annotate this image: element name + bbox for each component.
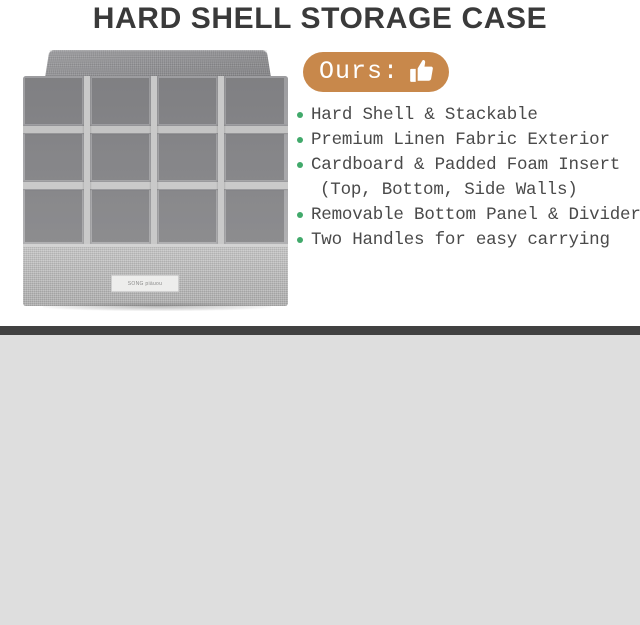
list-item-text: (Top, Bottom, Side Walls)	[320, 180, 578, 200]
others-section: Others: Bare cardboard bottom / dividers…	[0, 335, 640, 625]
brand-label: SONG piàuou	[111, 275, 179, 292]
bullet-dot	[297, 237, 303, 243]
ours-section: HARD SHELL STORAGE CASE	[0, 0, 640, 326]
compartment-divider	[84, 76, 90, 244]
case-compartment-grid	[23, 76, 288, 244]
list-item-text: Cardboard & Padded Foam Insert	[311, 155, 620, 175]
compartment-cell	[226, 190, 284, 242]
compartment-cell	[226, 78, 284, 124]
compartment-cell	[25, 190, 82, 242]
list-item: Cardboard & Padded Foam Insert	[296, 153, 640, 178]
infographic-page: HARD SHELL STORAGE CASE	[0, 0, 640, 625]
list-item-text: Removable Bottom Panel & Dividers	[311, 205, 640, 225]
list-item-text: Premium Linen Fabric Exterior	[311, 130, 610, 150]
list-item: Two Handles for easy carrying	[296, 228, 640, 253]
ours-badge: Ours:	[303, 52, 449, 92]
list-item: Hard Shell & Stackable	[296, 103, 640, 128]
bullet-dot	[297, 137, 303, 143]
compartment-divider	[218, 76, 224, 244]
compartment-cell	[92, 78, 149, 124]
case-front-panel: SONG piàuou	[23, 244, 288, 306]
compartment-cell	[25, 78, 82, 124]
compartment-cell	[159, 78, 216, 124]
ours-badge-label: Ours:	[319, 59, 399, 84]
compartment-cell	[159, 134, 216, 180]
list-item: Removable Bottom Panel & Dividers	[296, 203, 640, 228]
list-item-text: Hard Shell & Stackable	[311, 105, 538, 125]
case-body: SONG piàuou	[23, 76, 288, 306]
compartment-cell	[226, 134, 284, 180]
compartment-divider	[151, 76, 157, 244]
compartment-cell	[25, 134, 82, 180]
thumbs-up-icon	[409, 58, 435, 84]
ours-feature-list: Hard Shell & Stackable Premium Linen Fab…	[296, 103, 640, 253]
bullet-dot	[297, 212, 303, 218]
compartment-cell	[159, 190, 216, 242]
compartment-cell	[92, 134, 149, 180]
bullet-dot	[297, 162, 303, 168]
list-item-continuation: (Top, Bottom, Side Walls)	[296, 178, 640, 203]
hard-shell-case-image: SONG piàuou	[23, 48, 288, 306]
list-item: Premium Linen Fabric Exterior	[296, 128, 640, 153]
bullet-dot	[297, 112, 303, 118]
section-divider	[0, 326, 640, 335]
compartment-cell	[92, 190, 149, 242]
case-drop-shadow	[43, 302, 271, 311]
list-item-text: Two Handles for easy carrying	[311, 230, 610, 250]
page-title: HARD SHELL STORAGE CASE	[0, 2, 640, 36]
